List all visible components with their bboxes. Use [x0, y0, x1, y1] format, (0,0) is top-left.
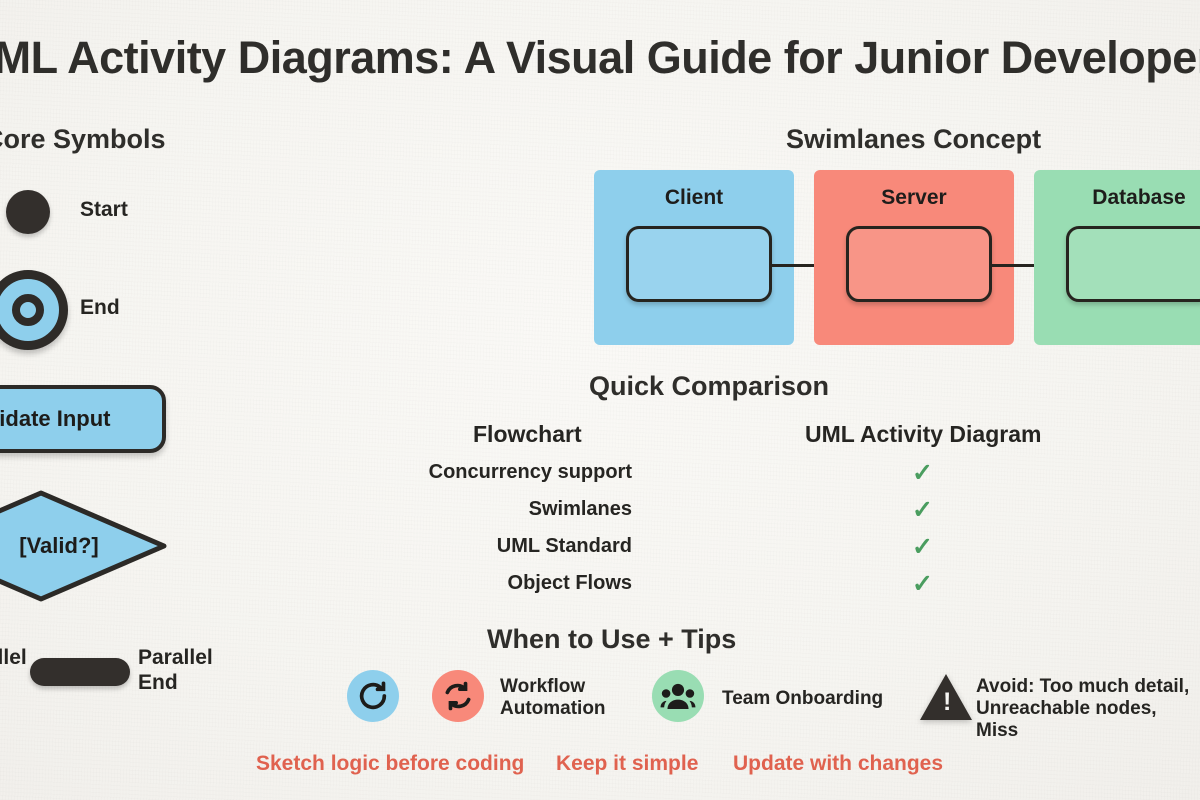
start-node-label: Start [80, 198, 128, 223]
refresh-icon [347, 670, 399, 722]
swimlane-database-label: Database [1034, 186, 1200, 210]
swimlane-server: Server [814, 170, 1014, 345]
start-node-icon [6, 190, 50, 234]
join-bar-label: Parallel End [138, 646, 213, 696]
sync-icon [432, 670, 484, 722]
section-title-swimlanes: Swimlanes Concept [786, 124, 1041, 155]
comparison-uml-check: ✓ [912, 532, 933, 562]
action-node-validate-input: Validate Input [0, 385, 166, 453]
comparison-column-header-uml: UML Activity Diagram [805, 421, 1041, 448]
swimlane-database-node [1066, 226, 1200, 302]
table-row: Object Flows ✓ [380, 572, 960, 606]
section-title-core-symbols: Core Symbols [0, 124, 166, 155]
decision-node-valid: [Valid?] [0, 489, 168, 603]
bottom-tip-keep-simple: Keep it simple [556, 752, 698, 776]
table-row: Swimlanes ✓ [380, 498, 960, 532]
comparison-feature-label: Swimlanes [529, 498, 632, 521]
tip-label-workflow-automation: Workflow Automation [500, 676, 606, 720]
bottom-tip-update-changes: Update with changes [733, 752, 943, 776]
swimlane-server-node [846, 226, 992, 302]
page-title: UML Activity Diagrams: A Visual Guide fo… [0, 32, 1200, 84]
comparison-uml-check: ✓ [912, 569, 933, 599]
swimlane-server-label: Server [814, 186, 1014, 210]
end-node-label: End [80, 296, 120, 321]
section-title-comparison: Quick Comparison [589, 371, 829, 402]
tip-label-team-onboarding: Team Onboarding [722, 688, 883, 710]
section-title-tips: When to Use + Tips [487, 624, 736, 655]
table-row: Concurrency support ✓ [380, 461, 960, 495]
warning-exclamation-glyph: ! [943, 690, 951, 715]
comparison-uml-check: ✓ [912, 495, 933, 525]
people-icon [652, 670, 704, 722]
table-row: UML Standard ✓ [380, 535, 960, 569]
join-bar-icon [30, 658, 130, 686]
end-node-icon [0, 270, 68, 350]
decision-node-label: [Valid?] [0, 489, 168, 603]
swimlane-client-node [626, 226, 772, 302]
comparison-feature-label: UML Standard [497, 535, 632, 558]
comparison-uml-check: ✓ [912, 458, 933, 488]
poster-canvas: UML Activity Diagrams: A Visual Guide fo… [0, 0, 1200, 800]
bottom-tip-sketch-logic: Sketch logic before coding [256, 752, 524, 776]
swimlane-client-label: Client [594, 186, 794, 210]
swimlane-database: Database [1034, 170, 1200, 345]
swimlane-client: Client [594, 170, 794, 345]
comparison-column-header-flowchart: Flowchart [473, 421, 582, 448]
comparison-feature-label: Object Flows [508, 572, 632, 595]
fork-bar-label: Parallel Start [0, 646, 27, 696]
comparison-feature-label: Concurrency support [429, 461, 632, 484]
warning-text: Avoid: Too much detail, Unreachable node… [976, 676, 1200, 742]
